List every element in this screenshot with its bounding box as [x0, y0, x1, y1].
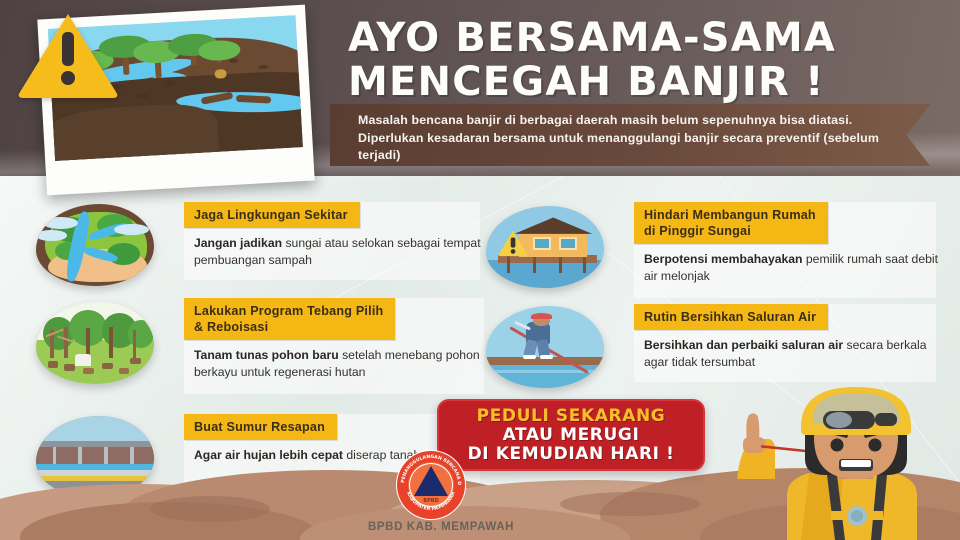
worker-cleaning-drain-icon [486, 306, 604, 388]
tip-label: Buat Sumur Resapan [184, 414, 337, 440]
tip-label: Jaga Lingkungan Sekitar [184, 202, 360, 228]
tip-description-bold: Berpotensi membahayakan [644, 252, 803, 266]
callout-line-3: DI KEMUDIAN HARI ! [468, 445, 675, 464]
tip-label: Lakukan Program Tebang Pilih & Reboisasi [184, 298, 395, 340]
callout-line-2: ATAU MERUGI [503, 426, 640, 445]
tip-text-block: Rutin Bersihkan Saluran Air Bersihkan da… [634, 304, 946, 370]
tip-text-block: Jaga Lingkungan Sekitar Jangan jadikan s… [184, 202, 484, 268]
tip-description: Berpotensi membahayakan pemilik rumah sa… [634, 251, 946, 284]
tip-description-bold: Tanam tunas pohon baru [194, 348, 339, 362]
footer-organization-text: BPBD KAB. MEMPAWAH [368, 521, 628, 533]
tip-label-line-2: & Reboisasi [194, 319, 383, 335]
logo-center-text: BPBD [423, 498, 438, 504]
aerial-river-landscape-icon [36, 204, 154, 286]
tip-description-bold: Jangan jadikan [194, 236, 282, 250]
tip-label-line-1: Rutin Bersihkan Saluran Air [644, 310, 816, 324]
tip-label: Hindari Membangun Rumah di Pinggir Sunga… [634, 202, 828, 244]
bpbd-logo: BADAN PENANGGULANGAN BENCANA DAERAH KABU… [395, 449, 467, 521]
callout-line-1: PEDULI SEKARANG [477, 407, 666, 426]
tip-label-line-1: Jaga Lingkungan Sekitar [194, 208, 348, 222]
tip-text-block: Hindari Membangun Rumah di Pinggir Sunga… [634, 202, 946, 284]
tip-description: Bersihkan dan perbaiki saluran air secar… [634, 337, 946, 370]
tip-label-line-2: di Pinggir Sungai [644, 223, 816, 239]
title-line-2: MENCEGAH BANJIR ! [348, 62, 928, 102]
forest-reforestation-icon [36, 302, 154, 384]
tip-description: Jangan jadikan sungai atau selokan sebag… [184, 235, 484, 268]
tip-description: Tanam tunas pohon baru setelah menebang … [184, 347, 494, 380]
title-line-1: AYO BERSAMA-SAMA [348, 15, 836, 61]
riverside-stilt-house-warning-icon [486, 206, 604, 288]
page-title: AYO BERSAMA-SAMA MENCEGAH BANJIR ! [348, 18, 928, 102]
warning-triangle-icon [16, 8, 120, 100]
tip-label-line-1: Lakukan Program Tebang Pilih [194, 304, 383, 318]
subtitle-text: Masalah bencana banjir di berbagai daera… [358, 112, 903, 165]
callout-banner: PEDULI SEKARANG ATAU MERUGI DI KEMUDIAN … [437, 399, 705, 471]
tip-label: Rutin Bersihkan Saluran Air [634, 304, 828, 330]
infographic-canvas: AYO BERSAMA-SAMA MENCEGAH BANJIR ! Masal… [0, 0, 960, 540]
tip-description-bold: Bersihkan dan perbaiki saluran air [644, 338, 843, 352]
tip-label-line-1: Buat Sumur Resapan [194, 420, 325, 434]
tip-text-block: Lakukan Program Tebang Pilih & Reboisasi… [184, 298, 494, 380]
rescue-worker-mascot [735, 383, 960, 540]
tip-label-line-1: Hindari Membangun Rumah [644, 208, 816, 222]
